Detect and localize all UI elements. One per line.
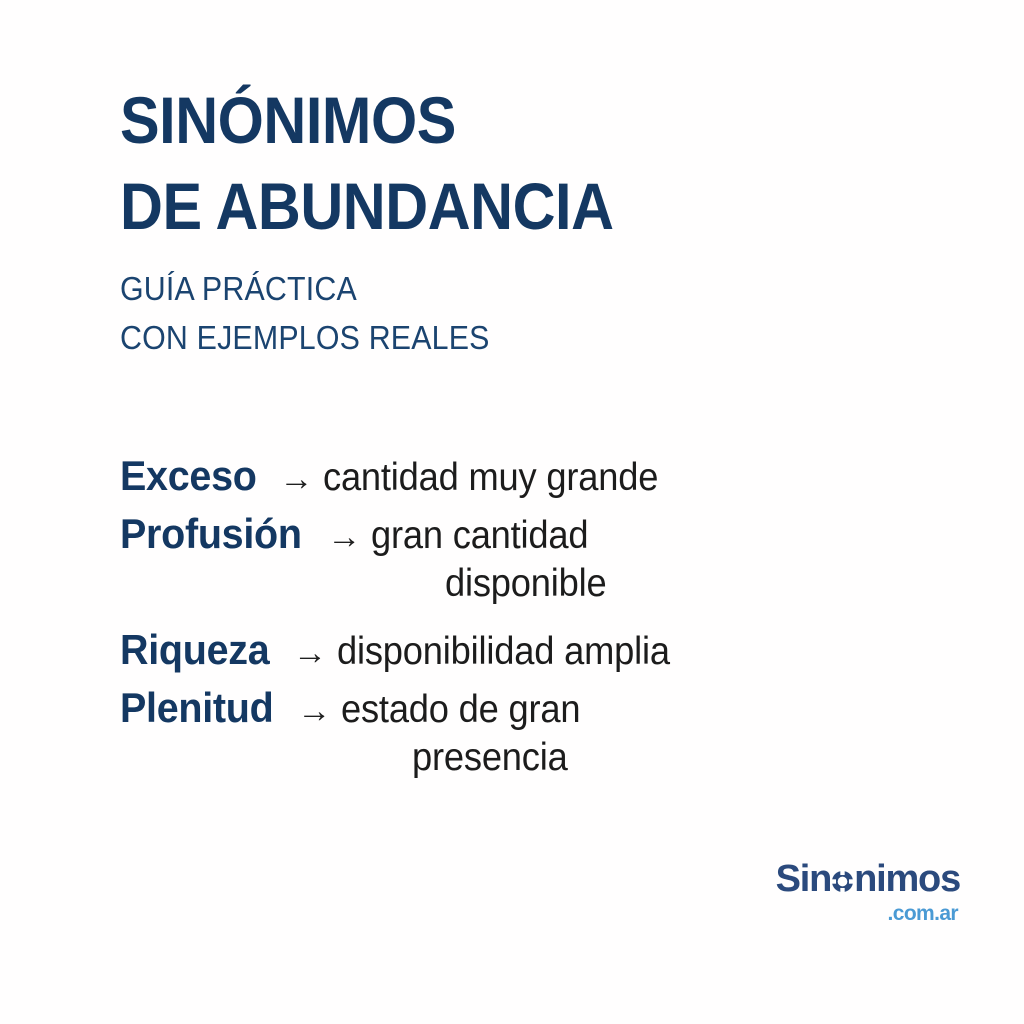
synonym-row: Plenitud → estado de gran presencia: [120, 684, 1000, 783]
page-title: SINÓNIMOS DE ABUNDANCIA: [120, 78, 876, 250]
synonym-term: Profusión: [120, 510, 302, 557]
synonym-term: Exceso: [120, 452, 257, 499]
infographic-card: SINÓNIMOS DE ABUNDANCIA GUÍA PRÁCTICA CO…: [0, 0, 1024, 1024]
synonym-definition: estado de gran: [341, 688, 580, 732]
synonym-definition-continuation: presencia: [412, 733, 959, 784]
page-title-line-1: SINÓNIMOS: [120, 78, 876, 164]
synonym-row: Profusión → gran cantidad disponible: [120, 510, 1000, 609]
page-subtitle-line-1: GUÍA PRÁCTICA: [120, 264, 893, 314]
synonym-row: Exceso → cantidad muy grande: [120, 452, 1000, 500]
logo-wordmark: Sin nimos: [776, 860, 960, 898]
site-logo[interactable]: Sin nimos .com.ar: [776, 860, 960, 924]
arrow-icon: →: [265, 462, 323, 496]
synonym-definition: disponibilidad amplia: [337, 630, 670, 674]
synonym-definition: cantidad muy grande: [323, 456, 658, 500]
synonym-term: Riqueza: [120, 626, 269, 673]
logo-tld: .com.ar: [776, 903, 958, 924]
arrow-icon: →: [313, 520, 371, 554]
synonym-list: Exceso → cantidad muy grande Profusión →…: [120, 452, 1000, 799]
page-title-line-2: DE ABUNDANCIA: [120, 164, 876, 250]
logo-text-after-o: nimos: [854, 860, 960, 898]
arrow-icon: →: [279, 636, 337, 670]
synonym-definition: gran cantidad: [371, 514, 588, 558]
synonym-main-line: Riqueza → disponibilidad amplia: [120, 626, 1000, 674]
logo-text-before-o: Sin: [776, 860, 832, 898]
arrow-icon: →: [283, 694, 341, 728]
synonym-term: Plenitud: [120, 684, 273, 731]
circular-arrows-icon: [830, 869, 855, 894]
synonym-main-line: Profusión → gran cantidad: [120, 510, 1000, 558]
page-subtitle: GUÍA PRÁCTICA CON EJEMPLOS REALES: [120, 264, 893, 363]
page-subtitle-line-2: CON EJEMPLOS REALES: [120, 313, 893, 363]
synonym-definition-continuation: disponible: [445, 559, 961, 610]
header-block: SINÓNIMOS DE ABUNDANCIA GUÍA PRÁCTICA CO…: [120, 78, 960, 363]
synonym-row: Riqueza → disponibilidad amplia: [120, 626, 1000, 674]
synonym-main-line: Plenitud → estado de gran: [120, 684, 1000, 732]
synonym-main-line: Exceso → cantidad muy grande: [120, 452, 1000, 500]
